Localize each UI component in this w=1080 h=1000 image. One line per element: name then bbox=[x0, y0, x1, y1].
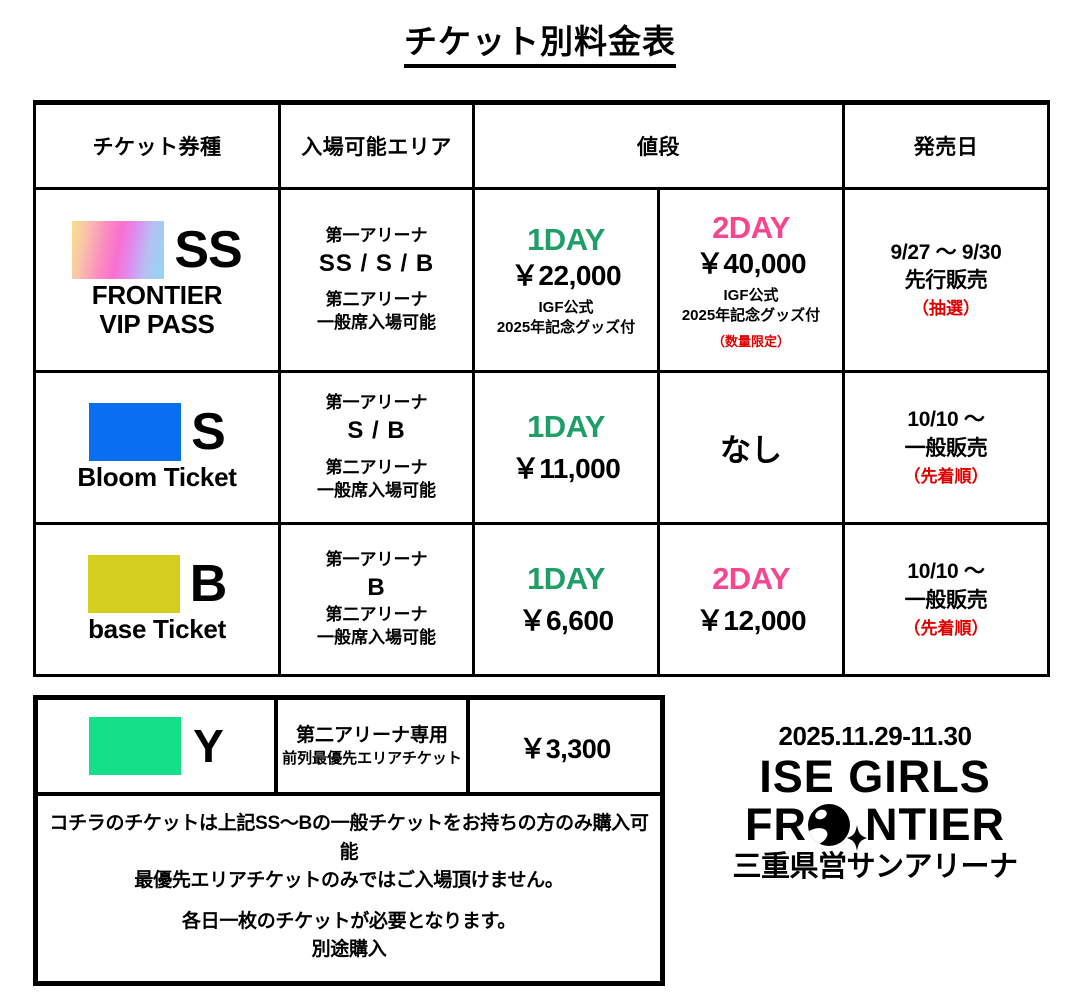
price-2day-cell-ss: 2DAY ￥40,000 IGF公式 2025年記念グッズ付 （数量限定） bbox=[659, 189, 844, 372]
header-price: 値段 bbox=[474, 103, 844, 189]
note-line-4: 別途購入 bbox=[48, 936, 650, 965]
day-tag-2day: 2DAY bbox=[663, 210, 839, 246]
y-price-cell: ￥3,300 bbox=[470, 700, 660, 792]
day-tag-1day: 1DAY bbox=[478, 222, 654, 258]
note-line-1: コチラのチケットは上記SS～Bの一般チケットをお持ちの方のみ購入可能 bbox=[48, 810, 650, 867]
ticket-name-line2: VIP PASS bbox=[39, 310, 275, 339]
header-ticket-type: チケット券種 bbox=[35, 103, 280, 189]
sale-date-range: 10/10 ～ bbox=[848, 558, 1044, 586]
sale-date-method: （抽選） bbox=[848, 297, 1044, 321]
y-area-sub: 前列最優先エリアチケット bbox=[282, 749, 462, 769]
logo-frontier-prefix: FR bbox=[745, 801, 807, 850]
table-row: B base Ticket 第一アリーナ B 第二アリーナ 一般席入場可能 1D… bbox=[35, 524, 1049, 676]
grade-label: SS bbox=[174, 224, 241, 276]
arena2-label: 第二アリーナ bbox=[284, 457, 469, 480]
grade-label: S bbox=[191, 406, 225, 458]
sale-date-method: （先着順） bbox=[848, 617, 1044, 641]
page-title-container: チケット別料金表 bbox=[0, 0, 1080, 68]
price-amount: ￥12,000 bbox=[663, 603, 839, 638]
venue-name: 三重県営サンアリーナ bbox=[700, 851, 1050, 884]
arena2-label: 第二アリーナ bbox=[284, 604, 469, 627]
sale-date-cell-b: 10/10 ～ 一般販売 （先着順） bbox=[844, 524, 1049, 676]
day-tag-1day: 1DAY bbox=[478, 561, 654, 597]
ticket-badge-b: B bbox=[39, 555, 275, 613]
price-amount: ￥6,600 bbox=[478, 603, 654, 638]
arena1-value: B bbox=[284, 572, 469, 604]
logo-line-frontier: FR NTIER bbox=[700, 801, 1050, 850]
arena1-value: SS / S / B bbox=[284, 248, 469, 280]
ticket-badge-s: S bbox=[39, 403, 275, 461]
yellow-swatch-icon bbox=[88, 555, 180, 613]
sale-date-type: 一般販売 bbox=[848, 587, 1044, 615]
price-limit-badge: （数量限定） bbox=[663, 331, 839, 350]
price-note-line2: 2025年記念グッズ付 bbox=[663, 306, 839, 326]
price-amount: ￥3,300 bbox=[519, 727, 611, 766]
arena2-value: 一般席入場可能 bbox=[284, 480, 469, 503]
arena2-label: 第二アリーナ bbox=[284, 289, 469, 312]
price-note-line1: IGF公式 bbox=[663, 286, 839, 306]
ticket-name-line1: base Ticket bbox=[39, 615, 275, 644]
price-amount: ￥40,000 bbox=[663, 246, 839, 281]
gradient-rainbow-swatch-icon bbox=[72, 221, 164, 279]
arena1-label: 第一アリーナ bbox=[284, 549, 469, 572]
price-1day-cell-b: 1DAY ￥6,600 bbox=[474, 524, 659, 676]
ticket-name-line1: Bloom Ticket bbox=[39, 463, 275, 492]
sparkle-icon bbox=[847, 812, 867, 838]
grade-label: Y bbox=[193, 723, 223, 769]
sale-date-range: 10/10 ～ bbox=[848, 406, 1044, 434]
ticket-type-cell-b: B base Ticket bbox=[35, 524, 280, 676]
price-amount: ￥22,000 bbox=[478, 258, 654, 293]
header-sale-date: 発売日 bbox=[844, 103, 1049, 189]
price-2day-cell-s: なし bbox=[659, 372, 844, 524]
arena1-value: S / B bbox=[284, 415, 469, 447]
note-line-2: 最優先エリアチケットのみではご入場頂けません。 bbox=[48, 867, 650, 896]
blue-swatch-icon bbox=[89, 403, 181, 461]
logo-line-ise-girls: ISE GIRLS bbox=[700, 753, 1050, 802]
price-1day-cell-s: 1DAY ￥11,000 bbox=[474, 372, 659, 524]
sale-date-cell-ss: 9/27 ～ 9/30 先行販売 （抽選） bbox=[844, 189, 1049, 372]
logo-frontier-suffix: NTIER bbox=[865, 801, 1005, 850]
day-tag-2day: 2DAY bbox=[663, 561, 839, 597]
green-swatch-icon bbox=[89, 717, 181, 775]
header-entry-area: 入場可能エリア bbox=[280, 103, 474, 189]
entry-area-cell-b: 第一アリーナ B 第二アリーナ 一般席入場可能 bbox=[280, 524, 474, 676]
ticket-type-cell-s: S Bloom Ticket bbox=[35, 372, 280, 524]
ticket-name-line1: FRONTIER bbox=[39, 281, 275, 310]
sale-date-type: 先行販売 bbox=[848, 267, 1044, 295]
table-row: SS FRONTIER VIP PASS 第一アリーナ SS / S / B 第… bbox=[35, 189, 1049, 372]
event-dates: 2025.11.29-11.30 bbox=[700, 722, 1050, 751]
entry-area-cell-ss: 第一アリーナ SS / S / B 第二アリーナ 一般席入場可能 bbox=[280, 189, 474, 372]
sale-date-type: 一般販売 bbox=[848, 435, 1044, 463]
day-tag-1day: 1DAY bbox=[478, 409, 654, 445]
price-note-line1: IGF公式 bbox=[478, 298, 654, 318]
y-ticket-notes: コチラのチケットは上記SS～Bの一般チケットをお持ちの方のみ購入可能 最優先エリ… bbox=[38, 792, 660, 981]
ticket-price-table: チケット券種 入場可能エリア 値段 発売日 SS FRONTIER VIP PA… bbox=[33, 100, 1050, 677]
entry-area-cell-s: 第一アリーナ S / B 第二アリーナ 一般席入場可能 bbox=[280, 372, 474, 524]
price-2day-cell-b: 2DAY ￥12,000 bbox=[659, 524, 844, 676]
arena1-label: 第一アリーナ bbox=[284, 392, 469, 415]
sale-date-cell-s: 10/10 ～ 一般販売 （先着順） bbox=[844, 372, 1049, 524]
price-1day-cell-ss: 1DAY ￥22,000 IGF公式 2025年記念グッズ付 bbox=[474, 189, 659, 372]
arena1-label: 第一アリーナ bbox=[284, 225, 469, 248]
y-area-main: 第二アリーナ専用 bbox=[296, 724, 448, 749]
arena2-value: 一般席入場可能 bbox=[284, 312, 469, 335]
sphere-o-icon bbox=[808, 804, 850, 846]
ticket-type-cell-ss: SS FRONTIER VIP PASS bbox=[35, 189, 280, 372]
ticket-badge-ss: SS bbox=[39, 221, 275, 279]
table-row: S Bloom Ticket 第一アリーナ S / B 第二アリーナ 一般席入場… bbox=[35, 372, 1049, 524]
price-none-label: なし bbox=[663, 425, 839, 470]
table-header-row: チケット券種 入場可能エリア 値段 発売日 bbox=[35, 103, 1049, 189]
page-title: チケット別料金表 bbox=[404, 22, 676, 68]
y-entry-area-cell: 第二アリーナ専用 前列最優先エリアチケット bbox=[278, 700, 470, 792]
note-line-3: 各日一枚のチケットが必要となります。 bbox=[48, 908, 650, 937]
priority-area-ticket-box: Y 第二アリーナ専用 前列最優先エリアチケット ￥3,300 コチラのチケットは… bbox=[33, 695, 665, 986]
price-amount: ￥11,000 bbox=[478, 451, 654, 486]
arena2-value: 一般席入場可能 bbox=[284, 627, 469, 650]
y-ticket-type-cell: Y bbox=[38, 700, 278, 792]
y-ticket-row: Y 第二アリーナ専用 前列最優先エリアチケット ￥3,300 bbox=[38, 700, 660, 792]
sale-date-range: 9/27 ～ 9/30 bbox=[848, 239, 1044, 267]
grade-label: B bbox=[190, 558, 227, 610]
sale-date-method: （先着順） bbox=[848, 465, 1044, 489]
event-logo: 2025.11.29-11.30 ISE GIRLS FR NTIER 三重県営… bbox=[700, 722, 1050, 884]
price-note-line2: 2025年記念グッズ付 bbox=[478, 318, 654, 338]
